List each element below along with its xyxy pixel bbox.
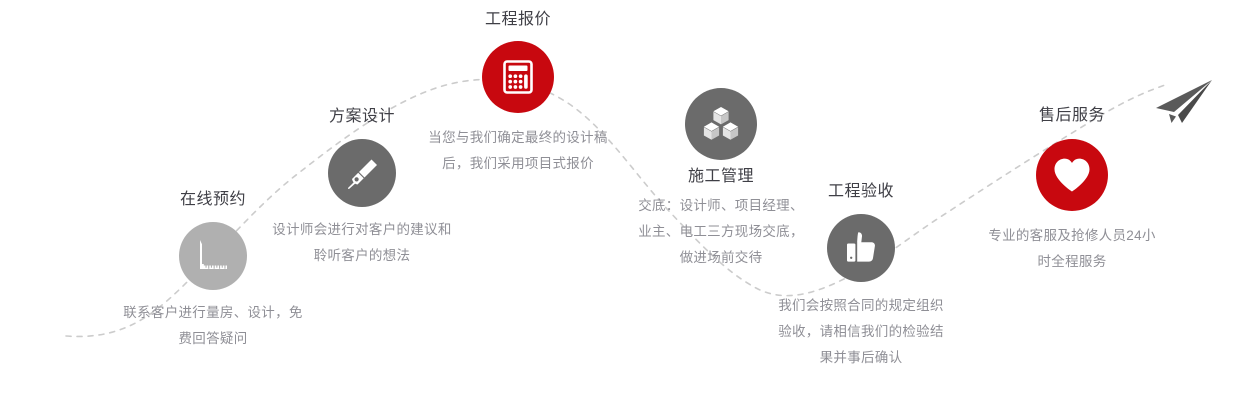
step-3-icon-wrap <box>418 41 618 113</box>
step-3-description: 当您与我们确定最终的设计稿后，我们采用项目式报价 <box>428 125 608 177</box>
step-6-icon-wrap <box>972 139 1172 211</box>
process-step-5[interactable]: 工程验收 我们会按照合同的规定组织验收，请相信我们的检验结果并事后确认 <box>761 182 961 371</box>
step-6-description: 专业的客服及抢修人员24小时全程服务 <box>984 223 1160 275</box>
step-3-title: 工程报价 <box>418 10 618 30</box>
process-step-3[interactable]: 工程报价 <box>418 10 618 177</box>
calculator-icon[interactable] <box>482 41 554 113</box>
ruler-triangle-icon[interactable] <box>179 222 247 290</box>
step-5-description: 我们会按照合同的规定组织验收，请相信我们的检验结果并事后确认 <box>773 293 949 371</box>
process-step-6[interactable]: 售后服务 专业的客服及抢修人员24小时全程服务 <box>972 106 1172 275</box>
step-4-icon-wrap <box>621 88 821 160</box>
thumbs-up-icon[interactable] <box>827 214 895 282</box>
process-flow-diagram: 在线预约 联 <box>0 0 1245 402</box>
step-5-title: 工程验收 <box>761 182 961 202</box>
heart-icon[interactable] <box>1036 139 1108 211</box>
paper-plane-icon <box>1148 78 1216 135</box>
step-1-description: 联系客户进行量房、设计，免费回答疑问 <box>123 300 303 352</box>
step-2-description: 设计师会进行对客户的建议和聆听客户的想法 <box>272 217 452 269</box>
fountain-pen-icon[interactable] <box>328 139 396 207</box>
blocks-cubes-icon[interactable] <box>685 88 757 160</box>
step-6-title: 售后服务 <box>972 106 1172 126</box>
step-5-icon-wrap <box>761 214 961 282</box>
